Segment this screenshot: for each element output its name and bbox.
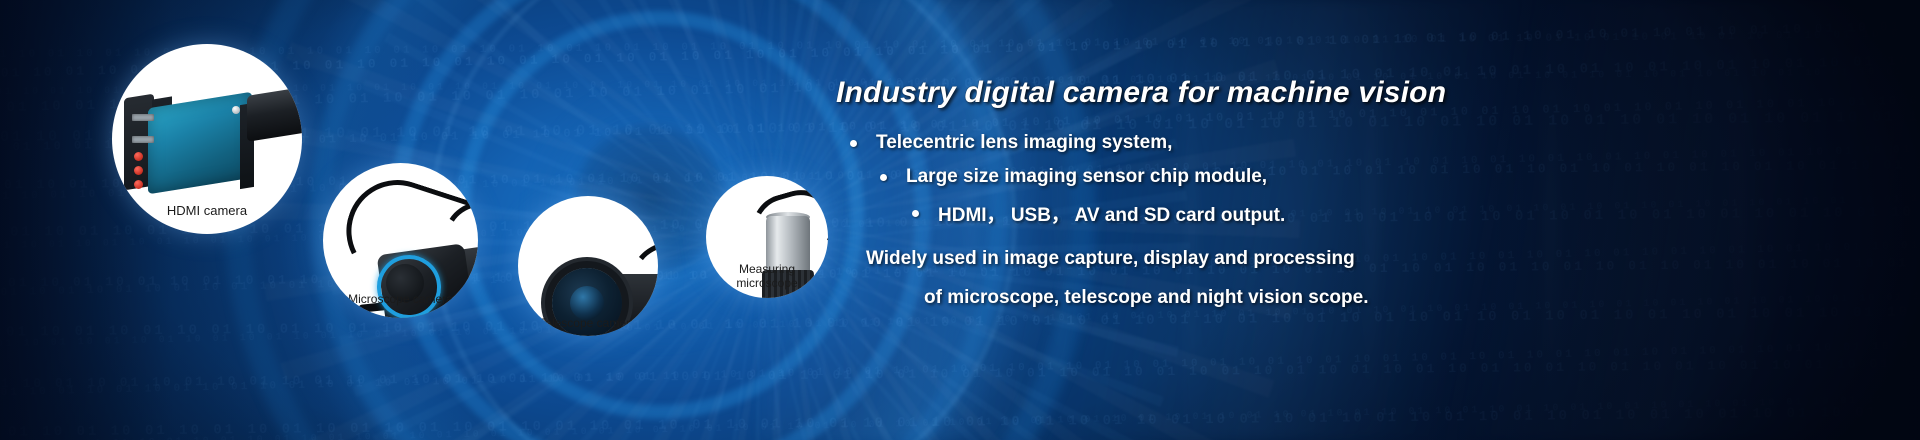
description-paragraph: Widely used in image capture, display an… bbox=[836, 249, 1906, 307]
description-line-2: of microscope, telescope and night visio… bbox=[924, 288, 1906, 307]
product-circle-hdmi-camera[interactable]: HDMI camera bbox=[112, 44, 302, 234]
product-label-line-2: microscope bbox=[736, 276, 797, 290]
camera-button-1 bbox=[134, 152, 143, 161]
marketing-copy: Industry digital camera for machine visi… bbox=[836, 76, 1906, 307]
bullet-dot-icon bbox=[912, 210, 919, 217]
product-label-hdmi-camera: HDMI camera bbox=[112, 203, 302, 218]
product-circle-microscope-camera[interactable]: Microscope camera bbox=[323, 163, 478, 318]
product-circle-telescope-camera[interactable]: Telescope camera bbox=[518, 196, 658, 336]
product-label-microscope-camera: Microscope camera bbox=[323, 292, 478, 306]
camera-button-3 bbox=[134, 180, 143, 189]
camera-screw bbox=[232, 106, 240, 114]
description-line-1: Widely used in image capture, display an… bbox=[866, 248, 1355, 269]
camera-connector-top bbox=[132, 114, 154, 121]
feature-bullet-2: Large size imaging sensor chip module, bbox=[880, 166, 1906, 188]
feature-bullet-3: HDMI， USB， AV and SD card output. bbox=[912, 200, 1906, 227]
product-banner: 01 10 01 10 01 10 01 10 01 10 01 10 01 1… bbox=[0, 0, 1920, 440]
page-title: Industry digital camera for machine visi… bbox=[836, 76, 1906, 110]
feature-bullet-1: Telecentric lens imaging system, bbox=[850, 132, 1906, 154]
feature-bullet-3-text: HDMI， USB， AV and SD card output. bbox=[938, 200, 1285, 227]
feature-bullet-1-text: Telecentric lens imaging system, bbox=[876, 132, 1172, 154]
product-label-telescope-camera: Telescope camera bbox=[518, 316, 658, 330]
camera-connector-mid bbox=[132, 136, 154, 143]
product-circle-measuring-microscope[interactable]: Measuring microscope bbox=[706, 176, 828, 298]
camera-lens-barrel bbox=[247, 84, 302, 142]
feature-bullet-2-text: Large size imaging sensor chip module, bbox=[906, 166, 1267, 188]
product-label-line-1: Measuring bbox=[739, 262, 795, 276]
bullet-dot-icon bbox=[850, 140, 857, 147]
camera-button-2 bbox=[134, 166, 143, 175]
feature-bullet-list: Telecentric lens imaging system, Large s… bbox=[836, 132, 1906, 227]
product-label-measuring-microscope: Measuring microscope bbox=[706, 262, 828, 290]
bullet-dot-icon bbox=[880, 174, 887, 181]
